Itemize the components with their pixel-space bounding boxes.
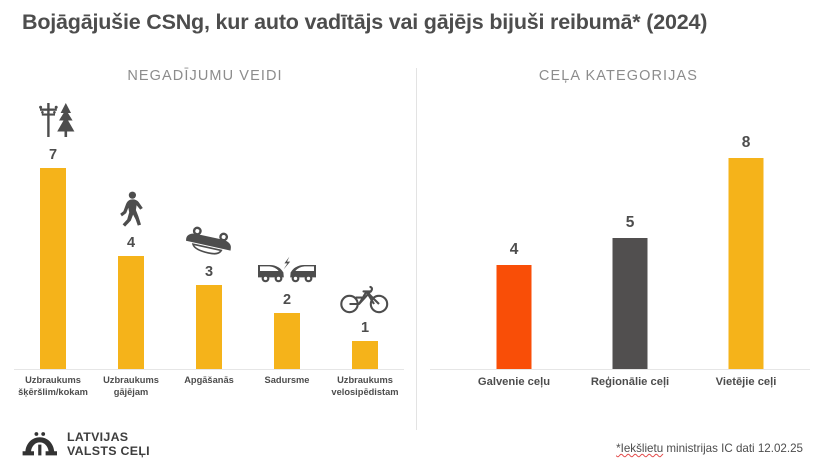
bar-vietejie-celi[interactable]	[729, 158, 764, 369]
accident-types-bar-chart: 7 4	[14, 100, 404, 370]
bar-sadursme[interactable]	[274, 313, 300, 369]
logo-text: LATVIJAS VALSTS CEĻI	[67, 430, 150, 459]
bar-slot-apgasanas: 3	[170, 100, 248, 369]
left-panel-heading: NEGADĪJUMU VEIDI	[0, 68, 410, 84]
bar-value-uzbraukums-skerslim: 7	[49, 147, 57, 163]
bar-value-uzbraukums-gajejam: 4	[127, 235, 135, 251]
category-label-uzbraukums-gajejam: Uzbraukums gājējam	[92, 374, 170, 399]
bar-apgasanas[interactable]	[196, 285, 222, 369]
category-label-regionalie-celi: Reģionālie ceļi	[572, 376, 688, 388]
bridge-arch-logo-icon	[22, 431, 58, 457]
category-label-uzbraukums-skerslim: Uzbraukums šķēršlim/kokam	[14, 374, 92, 399]
page-title: Bojāgājušie CSNg, kur auto vadītājs vai …	[22, 10, 812, 35]
right-panel-heading: CEĻA KATEGORIJAS	[416, 68, 821, 84]
logo-line-1: LATVIJAS	[67, 430, 128, 444]
category-label-apgasanas: Apgāšanās	[170, 374, 248, 386]
bar-slot-uzbraukums-skerslim: 7	[14, 100, 92, 369]
bar-value-sadursme: 2	[283, 292, 291, 308]
bar-slot-regionalie-celi: 5	[572, 100, 688, 369]
category-label-galvenie-celu: Galvenie ceļu	[456, 376, 572, 388]
source-note-rest: ministrijas IC dati 12.02.25	[663, 442, 803, 455]
left-chart-baseline	[14, 369, 404, 370]
bar-value-regionalie-celi: 5	[626, 214, 635, 232]
bar-regionalie-celi[interactable]	[613, 238, 648, 369]
category-label-sadursme: Sadursme	[248, 374, 326, 386]
bar-uzbraukums-velosipedistam[interactable]	[352, 341, 378, 369]
bar-slot-vietejie-celi: 8	[688, 100, 804, 369]
bar-slot-sadursme: 2	[248, 100, 326, 369]
bar-slot-galvenie-celu: 4	[456, 100, 572, 369]
source-note: *Iekšlietu ministrijas IC dati 12.02.25	[616, 442, 803, 455]
latvijas-valsts-celi-logo: LATVIJAS VALSTS CEĻI	[22, 430, 150, 459]
category-label-uzbraukums-velosipedistam: Uzbraukums velosipēdistam	[326, 374, 404, 399]
overturned-car-icon	[181, 226, 237, 258]
pedestrian-icon	[116, 191, 146, 229]
bar-slot-uzbraukums-velosipedistam: 1	[326, 100, 404, 369]
bar-value-vietejie-celi: 8	[742, 134, 751, 152]
utility-pole-tree-icon	[30, 101, 76, 141]
bar-value-uzbraukums-velosipedistam: 1	[361, 320, 369, 336]
right-chart-baseline	[430, 369, 810, 370]
bar-value-galvenie-celu: 4	[510, 241, 519, 259]
bar-uzbraukums-gajejam[interactable]	[118, 256, 144, 369]
logo-line-2: VALSTS CEĻI	[67, 444, 150, 458]
bar-uzbraukums-skerslim[interactable]	[40, 168, 66, 369]
category-label-vietejie-celi: Vietējie ceļi	[688, 376, 804, 388]
bar-galvenie-celu[interactable]	[497, 265, 532, 369]
panel-divider	[416, 68, 417, 430]
road-categories-bar-chart: 4 5 8	[430, 100, 810, 370]
bicycle-icon	[339, 284, 391, 314]
bar-value-apgasanas: 3	[205, 264, 213, 280]
source-note-marked: *Iekšlietu	[616, 442, 663, 455]
bar-slot-uzbraukums-gajejam: 4	[92, 100, 170, 369]
car-collision-icon	[256, 256, 318, 286]
